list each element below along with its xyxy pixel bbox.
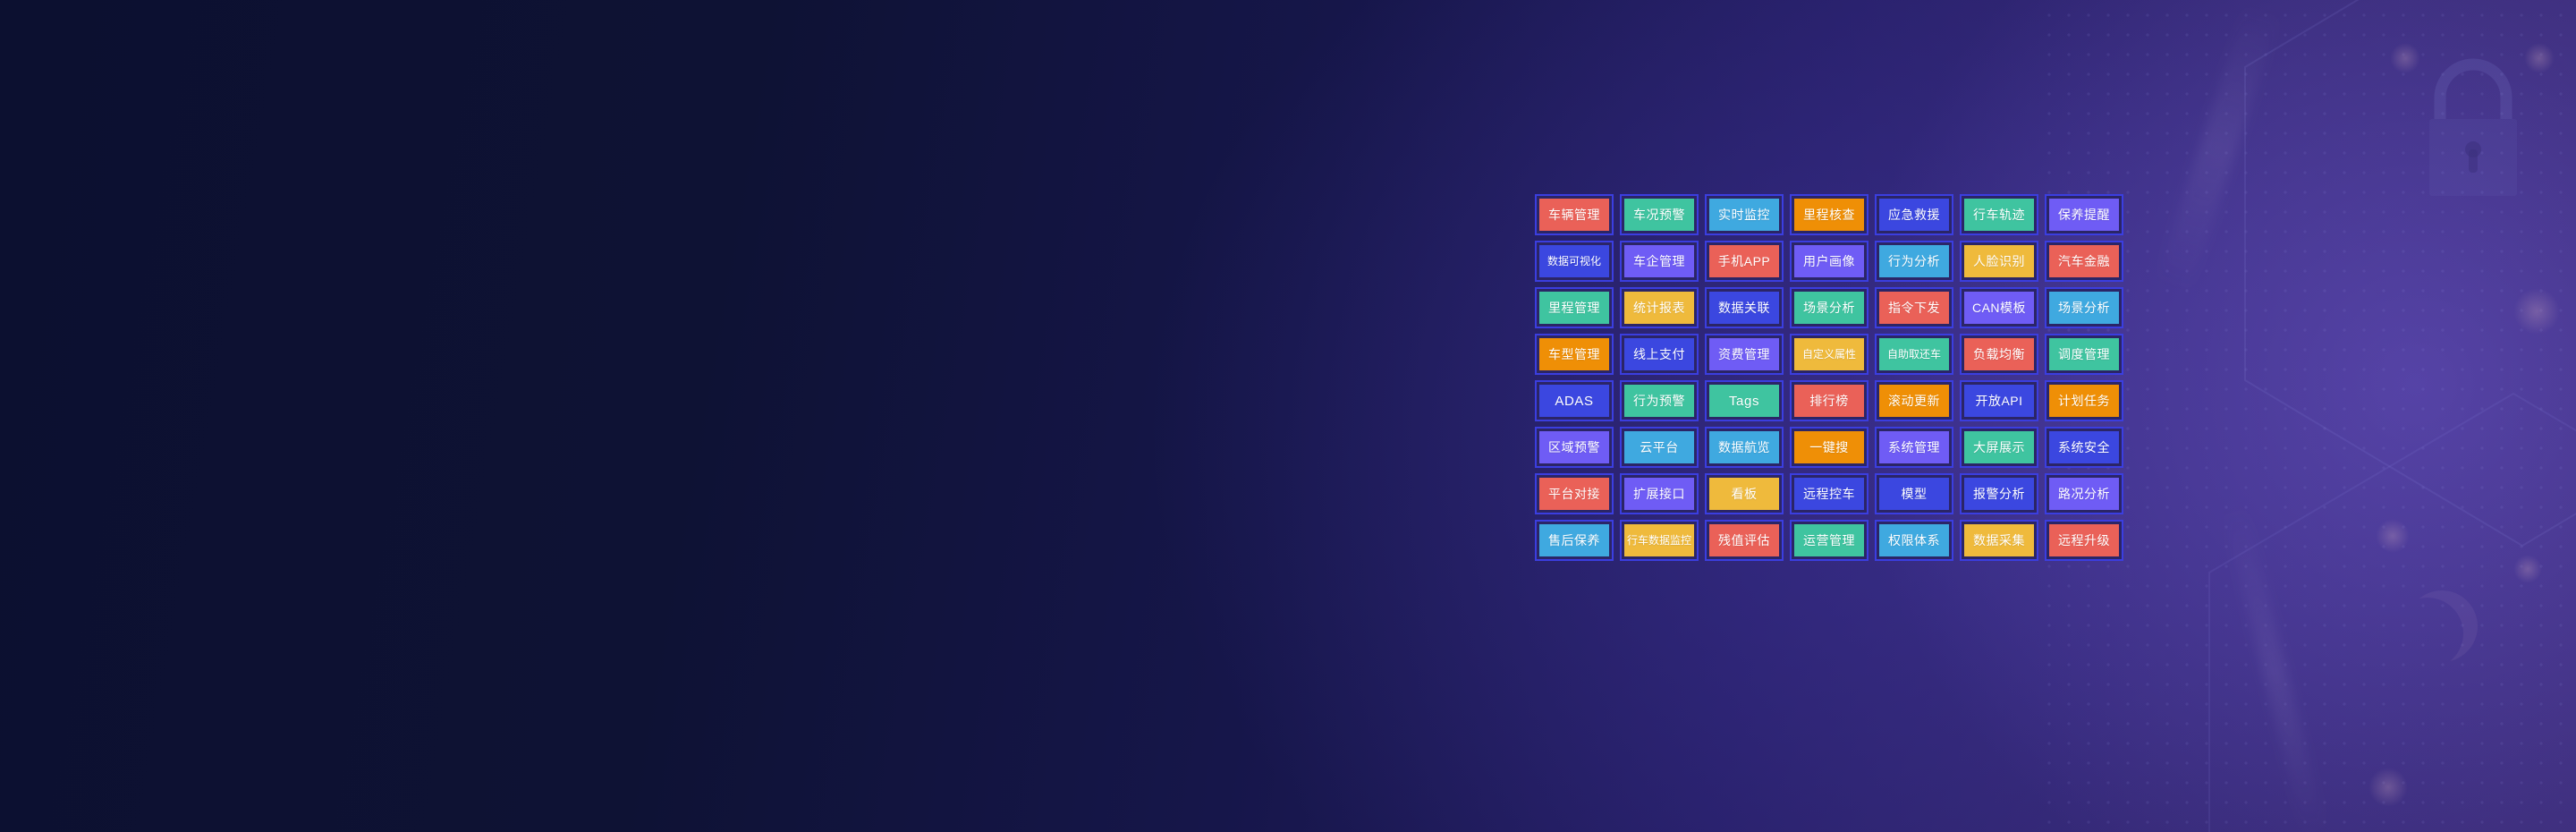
feature-tile[interactable]: 远程升级 xyxy=(2045,520,2123,561)
feature-tile-label: 扩展接口 xyxy=(1624,478,1694,510)
glow-dot xyxy=(2513,288,2560,335)
feature-tile[interactable]: 应急救援 xyxy=(1875,194,1953,235)
feature-tile[interactable]: 自助取还车 xyxy=(1875,334,1953,375)
moon-shape xyxy=(2406,590,2478,662)
feature-tile-label: 模型 xyxy=(1879,478,1949,510)
feature-tile[interactable]: 场景分析 xyxy=(2045,287,2123,328)
feature-tile-label: 车况预警 xyxy=(1624,199,1694,231)
feature-tile-label: 远程控车 xyxy=(1794,478,1864,510)
glow-dot xyxy=(2376,519,2410,553)
glow-dot xyxy=(2524,43,2555,73)
feature-tile[interactable]: 场景分析 xyxy=(1790,287,1868,328)
feature-tile-label: 里程核查 xyxy=(1794,199,1864,231)
feature-tile[interactable]: 滚动更新 xyxy=(1875,380,1953,421)
feature-tile-label: 看板 xyxy=(1709,478,1779,510)
feature-tile[interactable]: 用户画像 xyxy=(1790,241,1868,282)
feature-tile-grid: 车辆管理车况预警实时监控里程核查应急救援行车轨迹保养提醒数据可视化车企管理手机A… xyxy=(1535,194,2123,561)
feature-tile[interactable]: 平台对接 xyxy=(1535,473,1614,514)
feature-tile[interactable]: 资费管理 xyxy=(1705,334,1784,375)
feature-tile-label: 里程管理 xyxy=(1539,292,1609,324)
feature-tile-label: 滚动更新 xyxy=(1879,385,1949,417)
feature-tile[interactable]: 看板 xyxy=(1705,473,1784,514)
lock-icon xyxy=(2406,49,2540,215)
feature-tile-label: 指令下发 xyxy=(1879,292,1949,324)
feature-tile-label: 车企管理 xyxy=(1624,245,1694,277)
feature-tile[interactable]: 系统安全 xyxy=(2045,427,2123,468)
feature-tile[interactable]: 行车数据监控 xyxy=(1620,520,1699,561)
feature-tile[interactable]: 远程控车 xyxy=(1790,473,1868,514)
feature-tile-label: 线上支付 xyxy=(1624,338,1694,370)
glow-dot xyxy=(2390,43,2420,73)
feature-tile-label: 场景分析 xyxy=(2049,292,2119,324)
feature-tile-label: 数据采集 xyxy=(1964,524,2034,556)
feature-tile-label: 大屏展示 xyxy=(1964,431,2034,463)
feature-tile[interactable]: 数据航览 xyxy=(1705,427,1784,468)
feature-tile[interactable]: 行为预警 xyxy=(1620,380,1699,421)
feature-tile-label: 车辆管理 xyxy=(1539,199,1609,231)
feature-tile-label: 计划任务 xyxy=(2049,385,2119,417)
feature-tile[interactable]: Tags xyxy=(1705,380,1784,421)
light-streak xyxy=(2156,2,2281,293)
feature-tile-label: 权限体系 xyxy=(1879,524,1949,556)
feature-tile[interactable]: 残值评估 xyxy=(1705,520,1784,561)
feature-tile[interactable]: 扩展接口 xyxy=(1620,473,1699,514)
feature-tile-label: 手机APP xyxy=(1709,245,1779,277)
feature-tile-label: 系统管理 xyxy=(1879,431,1949,463)
feature-tile-label: 平台对接 xyxy=(1539,478,1609,510)
feature-tile[interactable]: ADAS xyxy=(1535,380,1614,421)
feature-tile[interactable]: 模型 xyxy=(1875,473,1953,514)
feature-tile-label: 一键搜 xyxy=(1794,431,1864,463)
feature-tile[interactable]: 汽车金融 xyxy=(2045,241,2123,282)
feature-tile-label: 排行榜 xyxy=(1794,385,1864,417)
feature-tile-label: 残值评估 xyxy=(1709,524,1779,556)
feature-tile[interactable]: 数据关联 xyxy=(1705,287,1784,328)
feature-tile[interactable]: 排行榜 xyxy=(1790,380,1868,421)
feature-tile[interactable]: 车型管理 xyxy=(1535,334,1614,375)
hexagon-outline-top xyxy=(2209,0,2576,564)
feature-tile-label: 数据航览 xyxy=(1709,431,1779,463)
feature-tile[interactable]: 数据采集 xyxy=(1960,520,2038,561)
feature-tile[interactable]: 开放API xyxy=(1960,380,2038,421)
feature-tile[interactable]: 线上支付 xyxy=(1620,334,1699,375)
feature-tile[interactable]: 路况分析 xyxy=(2045,473,2123,514)
feature-tile-label: 报警分析 xyxy=(1964,478,2034,510)
feature-tile-label: 远程升级 xyxy=(2049,524,2119,556)
feature-tile-label: 运营管理 xyxy=(1794,524,1864,556)
feature-tile-label: 云平台 xyxy=(1624,431,1694,463)
feature-tile[interactable]: 统计报表 xyxy=(1620,287,1699,328)
feature-tile-label: ADAS xyxy=(1539,385,1609,417)
feature-tile-label: 数据关联 xyxy=(1709,292,1779,324)
feature-tile[interactable]: 行车轨迹 xyxy=(1960,194,2038,235)
feature-tile[interactable]: 自定义属性 xyxy=(1790,334,1868,375)
feature-tile-label: 行为分析 xyxy=(1879,245,1949,277)
feature-tile[interactable]: 车企管理 xyxy=(1620,241,1699,282)
feature-tile[interactable]: CAN模板 xyxy=(1960,287,2038,328)
feature-tile[interactable]: 运营管理 xyxy=(1790,520,1868,561)
feature-tile-label: 汽车金融 xyxy=(2049,245,2119,277)
feature-tile[interactable]: 售后保养 xyxy=(1535,520,1614,561)
feature-tile[interactable]: 区域预警 xyxy=(1535,427,1614,468)
feature-tile[interactable]: 车辆管理 xyxy=(1535,194,1614,235)
feature-tile-label: 场景分析 xyxy=(1794,292,1864,324)
feature-tile-label: 开放API xyxy=(1964,385,2034,417)
feature-tile-label: 行为预警 xyxy=(1624,385,1694,417)
feature-tile[interactable]: 系统管理 xyxy=(1875,427,1953,468)
feature-tile-label: 系统安全 xyxy=(2049,431,2119,463)
feature-tile[interactable]: 计划任务 xyxy=(2045,380,2123,421)
feature-tile-label: 车型管理 xyxy=(1539,338,1609,370)
feature-tile-label: 数据可视化 xyxy=(1539,245,1609,277)
feature-tile-label: 调度管理 xyxy=(2049,338,2119,370)
light-streak xyxy=(2222,503,2326,832)
feature-tile[interactable]: 指令下发 xyxy=(1875,287,1953,328)
screen-canvas: 车辆管理车况预警实时监控里程核查应急救援行车轨迹保养提醒数据可视化车企管理手机A… xyxy=(0,0,2576,832)
feature-tile[interactable]: 实时监控 xyxy=(1705,194,1784,235)
feature-tile-label: Tags xyxy=(1709,385,1779,417)
feature-tile-label: 路况分析 xyxy=(2049,478,2119,510)
feature-tile-label: 自定义属性 xyxy=(1794,338,1864,370)
feature-tile[interactable]: 保养提醒 xyxy=(2045,194,2123,235)
feature-tile-label: 资费管理 xyxy=(1709,338,1779,370)
feature-tile-label: 区域预警 xyxy=(1539,431,1609,463)
feature-tile[interactable]: 云平台 xyxy=(1620,427,1699,468)
feature-tile-label: 负载均衡 xyxy=(1964,338,2034,370)
feature-tile-label: 统计报表 xyxy=(1624,292,1694,324)
feature-tile[interactable]: 数据可视化 xyxy=(1535,241,1614,282)
feature-tile-label: 应急救援 xyxy=(1879,199,1949,231)
feature-tile[interactable]: 权限体系 xyxy=(1875,520,1953,561)
glow-dot xyxy=(2368,768,2408,807)
feature-tile-label: 人脸识别 xyxy=(1964,245,2034,277)
feature-tile[interactable]: 手机APP xyxy=(1705,241,1784,282)
feature-tile-label: 自助取还车 xyxy=(1879,338,1949,370)
hexagon-outline-bottom xyxy=(2173,376,2576,832)
feature-tile[interactable]: 人脸识别 xyxy=(1960,241,2038,282)
feature-tile[interactable]: 里程核查 xyxy=(1790,194,1868,235)
feature-tile[interactable]: 一键搜 xyxy=(1790,427,1868,468)
feature-tile-label: 行车轨迹 xyxy=(1964,199,2034,231)
feature-tile-label: 行车数据监控 xyxy=(1624,524,1694,556)
feature-tile-label: CAN模板 xyxy=(1964,292,2034,324)
feature-tile-label: 保养提醒 xyxy=(2049,199,2119,231)
feature-tile[interactable]: 调度管理 xyxy=(2045,334,2123,375)
feature-tile[interactable]: 报警分析 xyxy=(1960,473,2038,514)
feature-tile[interactable]: 车况预警 xyxy=(1620,194,1699,235)
feature-tile[interactable]: 大屏展示 xyxy=(1960,427,2038,468)
feature-tile-label: 售后保养 xyxy=(1539,524,1609,556)
feature-tile-label: 实时监控 xyxy=(1709,199,1779,231)
feature-tile[interactable]: 里程管理 xyxy=(1535,287,1614,328)
glow-dot xyxy=(2513,555,2542,583)
feature-tile-label: 用户画像 xyxy=(1794,245,1864,277)
feature-tile[interactable]: 负载均衡 xyxy=(1960,334,2038,375)
feature-tile[interactable]: 行为分析 xyxy=(1875,241,1953,282)
